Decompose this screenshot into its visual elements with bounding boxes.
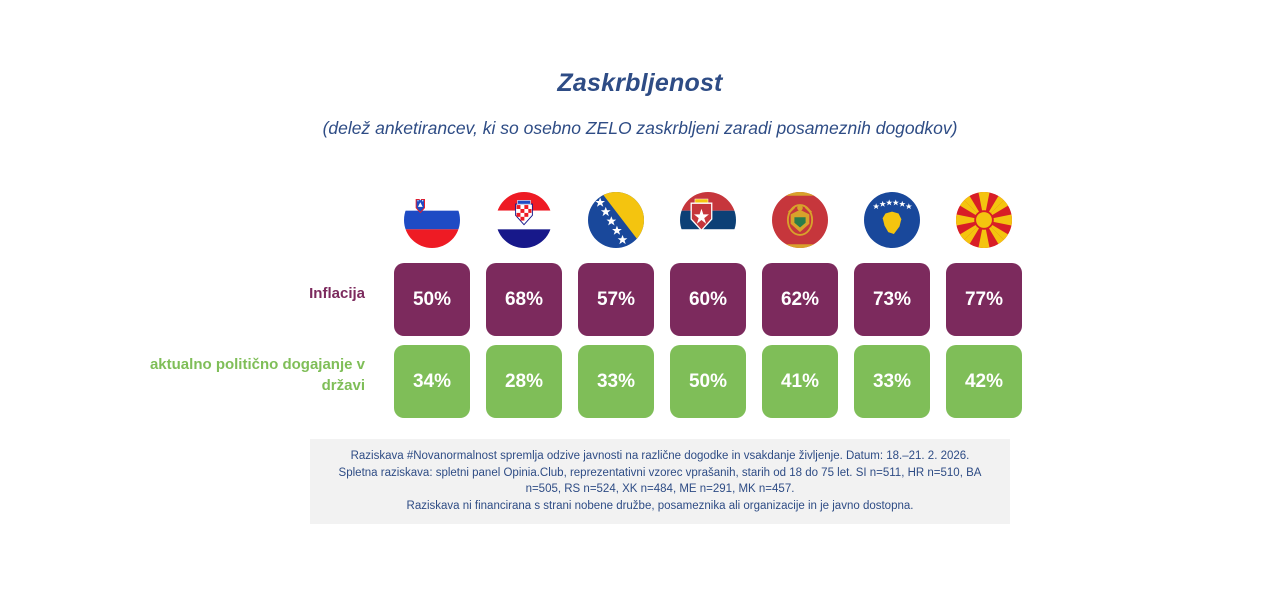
country-column-montenegro xyxy=(762,186,838,254)
value-cell-politika-north-macedonia: 42% xyxy=(946,345,1022,418)
value-cell-politika-slovenia: 34% xyxy=(394,345,470,418)
country-column-serbia xyxy=(670,186,746,254)
value-cell-inflacija-croatia: 68% xyxy=(486,263,562,336)
value-cell-politika-serbia: 50% xyxy=(670,345,746,418)
flag-wrap-north-macedonia xyxy=(946,186,1022,254)
flag-montenegro-icon xyxy=(772,192,828,248)
flag-wrap-serbia xyxy=(670,186,746,254)
flag-wrap-bosnia xyxy=(578,186,654,254)
flag-north-macedonia-icon xyxy=(956,192,1012,248)
value-cell-inflacija-north-macedonia: 77% xyxy=(946,263,1022,336)
value-cell-inflacija-kosovo: 73% xyxy=(854,263,930,336)
country-column-croatia xyxy=(486,186,562,254)
country-column-bosnia xyxy=(578,186,654,254)
data-row-politika: 34% 28% 33% 50% 41% 33% 42% xyxy=(394,345,1022,418)
country-column-north-macedonia xyxy=(946,186,1022,254)
chart-header: Zaskrbljenost (delež anketirancev, ki so… xyxy=(0,68,1280,139)
infographic-page: Zaskrbljenost (delež anketirancev, ki so… xyxy=(0,0,1280,600)
footnote-line-2: Spletna raziskava: spletni panel Opinia.… xyxy=(322,465,998,498)
value-cell-inflacija-bosnia: 57% xyxy=(578,263,654,336)
value-cell-inflacija-slovenia: 50% xyxy=(394,263,470,336)
value-cell-politika-kosovo: 33% xyxy=(854,345,930,418)
value-cell-politika-croatia: 28% xyxy=(486,345,562,418)
value-cell-inflacija-montenegro: 62% xyxy=(762,263,838,336)
flag-wrap-montenegro xyxy=(762,186,838,254)
value-cell-politika-montenegro: 41% xyxy=(762,345,838,418)
flag-wrap-croatia xyxy=(486,186,562,254)
footnote-line-1: Raziskava #Novanormalnost spremlja odziv… xyxy=(322,448,998,465)
footnote-line-3: Raziskava ni financirana s strani nobene… xyxy=(322,498,998,515)
flag-wrap-kosovo xyxy=(854,186,930,254)
flag-slovenia-icon xyxy=(404,192,460,248)
methodology-footnote: Raziskava #Novanormalnost spremlja odziv… xyxy=(310,439,1010,524)
data-row-inflacija: 50% 68% 57% 60% 62% 73% 77% xyxy=(394,263,1022,336)
country-column-kosovo xyxy=(854,186,930,254)
flag-kosovo-icon xyxy=(864,192,920,248)
row-label-politika: aktualno politično dogajanje v državi xyxy=(135,354,365,396)
flag-wrap-slovenia xyxy=(394,186,470,254)
country-value-matrix: 50% 68% 57% 60% 62% 73% 77% 34% 28% 33% … xyxy=(394,186,1022,418)
country-flag-row xyxy=(394,186,1022,254)
flag-croatia-icon xyxy=(496,192,552,248)
page-subtitle: (delež anketirancev, ki so osebno ZELO z… xyxy=(0,117,1280,139)
row-label-inflacija: Inflacija xyxy=(135,283,365,304)
value-cell-politika-bosnia: 33% xyxy=(578,345,654,418)
country-column-slovenia xyxy=(394,186,470,254)
value-cell-inflacija-serbia: 60% xyxy=(670,263,746,336)
page-title: Zaskrbljenost xyxy=(0,68,1280,98)
flag-serbia-icon xyxy=(680,192,736,248)
flag-bosnia-icon xyxy=(588,192,644,248)
